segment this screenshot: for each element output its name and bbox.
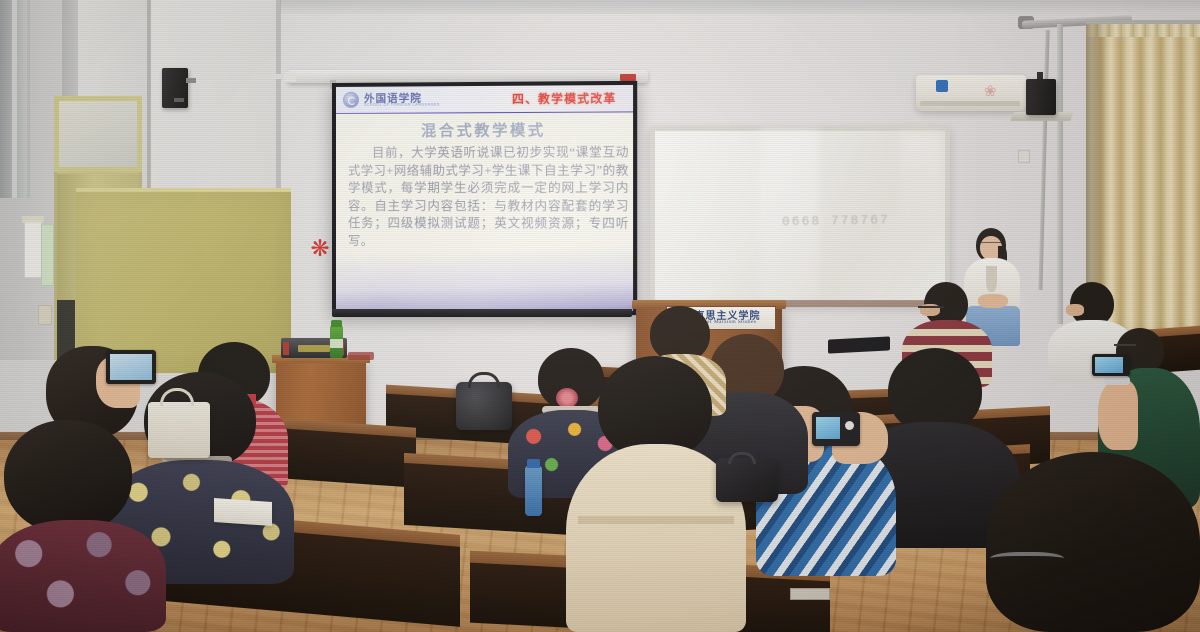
wall-decoration-icon: ❋ (306, 235, 334, 261)
ac-brand-badge (936, 80, 948, 92)
desk-seat-plate-3 (790, 588, 830, 600)
raised-arm (1098, 380, 1138, 450)
wall-speaker-right (1026, 79, 1056, 115)
wall-speaker-left (162, 68, 188, 108)
projection-screen: 外国语学院 SCHOOL OF FOREIGN LANGUAGES 四、教学模式… (332, 81, 637, 315)
green-bottle-cap (331, 320, 342, 327)
partition-top-edge (76, 188, 291, 192)
wall-notice-1 (24, 220, 42, 278)
open-notebook (214, 498, 272, 526)
phone-screen (1095, 357, 1123, 373)
water-bottle-cap (527, 459, 540, 468)
audience-member-foreground (986, 452, 1200, 632)
slide-title: 混合式教学模式 (336, 119, 633, 141)
phone-device[interactable] (1092, 354, 1130, 376)
wall-notice-2 (41, 224, 54, 286)
camera-screen (816, 417, 840, 439)
polka-dot-top (0, 520, 166, 632)
audience-member-polka-dot (0, 420, 166, 632)
university-logo-icon (343, 92, 359, 108)
head (986, 452, 1200, 632)
speaker-bracket-left (186, 78, 196, 83)
transom-window (54, 96, 142, 172)
handbag-black (456, 382, 512, 430)
green-bottle-label (330, 339, 343, 348)
handbag-white (148, 402, 210, 458)
water-bottle-blue (525, 466, 542, 516)
light-switch-plate[interactable] (38, 305, 52, 325)
case-label (298, 345, 330, 352)
glasses-icon (990, 552, 1064, 568)
casing-end-cap (284, 72, 296, 82)
slide-body-text: 目前，大学英语听说课已初步实现“课堂互动式学习+网络辅助式学习+学生课下自主学习… (348, 144, 629, 251)
camera-device[interactable] (812, 412, 860, 446)
slide-section-heading: 四、教学模式改革 (512, 90, 616, 107)
whiteboard-glare-2 (900, 132, 942, 222)
whiteboard-faint-writing: 0668 778767 (782, 212, 912, 234)
lecture-hall-photo: ❋ 外国语学院 SCHOOL OF FOREIGN LANGUAGES 四、教学… (0, 0, 1200, 632)
slide-logo-english: SCHOOL OF FOREIGN LANGUAGES (364, 102, 440, 106)
screen-bottom-weight-bar (332, 309, 632, 317)
wrist-watch-icon (1104, 376, 1130, 385)
glasses-icon (918, 306, 944, 310)
glasses-icon (1114, 344, 1136, 350)
notice-tape (22, 216, 44, 223)
ac-decal-icon: ❀ (984, 82, 1010, 102)
window-mullion (12, 0, 17, 198)
wall-conduit (1057, 24, 1063, 324)
slide-header-bar: 外国语学院 SCHOOL OF FOREIGN LANGUAGES 四、教学模式… (336, 85, 633, 114)
wall-socket[interactable] (1018, 150, 1030, 163)
handbag-dark (716, 458, 778, 502)
projected-slide: 外国语学院 SCHOOL OF FOREIGN LANGUAGES 四、教学模式… (336, 85, 633, 311)
head (4, 420, 132, 534)
blouse-belt (578, 516, 734, 524)
speaker-label-left (174, 98, 184, 102)
red-cloth (348, 352, 374, 360)
ear (1066, 304, 1084, 316)
camera-button-icon[interactable] (845, 421, 854, 430)
